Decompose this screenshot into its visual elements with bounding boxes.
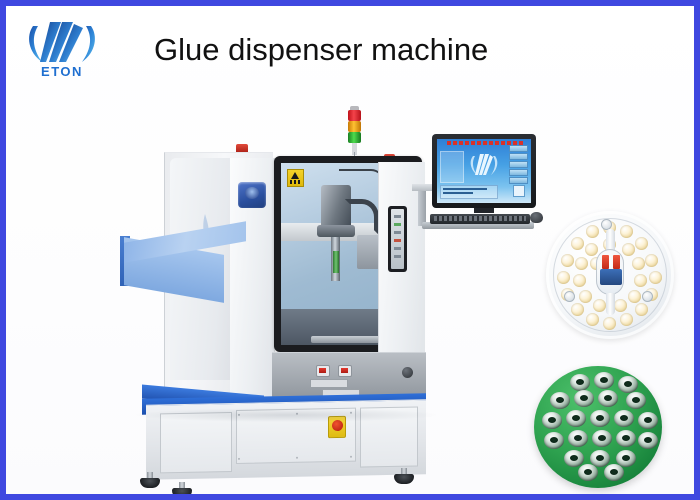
hmi-row xyxy=(394,231,401,234)
leveling-foot xyxy=(394,468,414,484)
hmi-indicator-panel[interactable] xyxy=(388,206,407,272)
software-badge xyxy=(513,185,525,197)
tower-lamp-amber xyxy=(348,121,361,132)
software-button[interactable] xyxy=(509,169,528,176)
hmi-row xyxy=(394,215,401,218)
conveyor-loading-tray xyxy=(120,232,248,304)
software-status-bar xyxy=(440,185,498,199)
hmi-row xyxy=(394,247,401,250)
software-left-panel xyxy=(440,151,464,183)
led-driver-housing xyxy=(596,249,624,295)
product-image-frame: ETON Glue dispenser machine xyxy=(0,0,700,500)
monitor-stand xyxy=(474,208,494,213)
eton-wing-logo-icon: ETON xyxy=(20,18,104,84)
page-title: Glue dispenser machine xyxy=(154,32,488,68)
top-red-button-left[interactable] xyxy=(236,144,248,152)
green-led-pcb xyxy=(534,366,662,488)
monitor-screen[interactable] xyxy=(437,139,531,203)
tower-lamp-green xyxy=(348,132,361,143)
eton-wing-logo-icon xyxy=(469,153,499,179)
image-canvas: ETON Glue dispenser machine xyxy=(6,6,694,494)
module-stem-top xyxy=(606,229,615,251)
leveling-foot xyxy=(140,472,160,488)
indicator-button[interactable] xyxy=(338,365,352,377)
software-button[interactable] xyxy=(509,177,528,184)
leveling-foot xyxy=(172,482,192,498)
software-button[interactable] xyxy=(509,145,528,152)
operator-monitor xyxy=(414,134,538,244)
driver-connector-red xyxy=(602,255,609,269)
hmi-screen xyxy=(391,209,404,269)
fascia-label-plate xyxy=(310,379,348,388)
indicator-button[interactable] xyxy=(316,365,330,377)
hmi-row xyxy=(394,223,401,226)
warning-label-icon xyxy=(287,169,304,187)
signal-tower-light xyxy=(348,106,361,152)
software-button[interactable] xyxy=(509,161,528,168)
tower-lamp-red xyxy=(348,110,361,121)
mouse[interactable] xyxy=(530,212,543,223)
driver-pcb xyxy=(600,269,622,285)
dispensing-head-assembly xyxy=(317,185,357,301)
keyboard[interactable] xyxy=(430,214,530,224)
leveling-foot xyxy=(218,496,238,500)
fascia-knob[interactable] xyxy=(402,367,413,378)
monitor-bezel xyxy=(432,134,536,208)
driver-connector-red xyxy=(613,255,620,269)
software-button[interactable] xyxy=(509,153,528,160)
door-handle[interactable] xyxy=(238,182,266,208)
head-collar xyxy=(317,225,355,237)
hmi-row xyxy=(394,239,401,242)
hmi-row xyxy=(394,255,401,258)
white-led-module xyxy=(546,211,674,339)
glue-syringe xyxy=(333,251,339,273)
brand-name: ETON xyxy=(20,64,104,79)
machine-shadow xyxy=(136,408,436,422)
glue-dispenser-machine xyxy=(126,106,436,426)
module-stem-bottom xyxy=(606,293,615,315)
